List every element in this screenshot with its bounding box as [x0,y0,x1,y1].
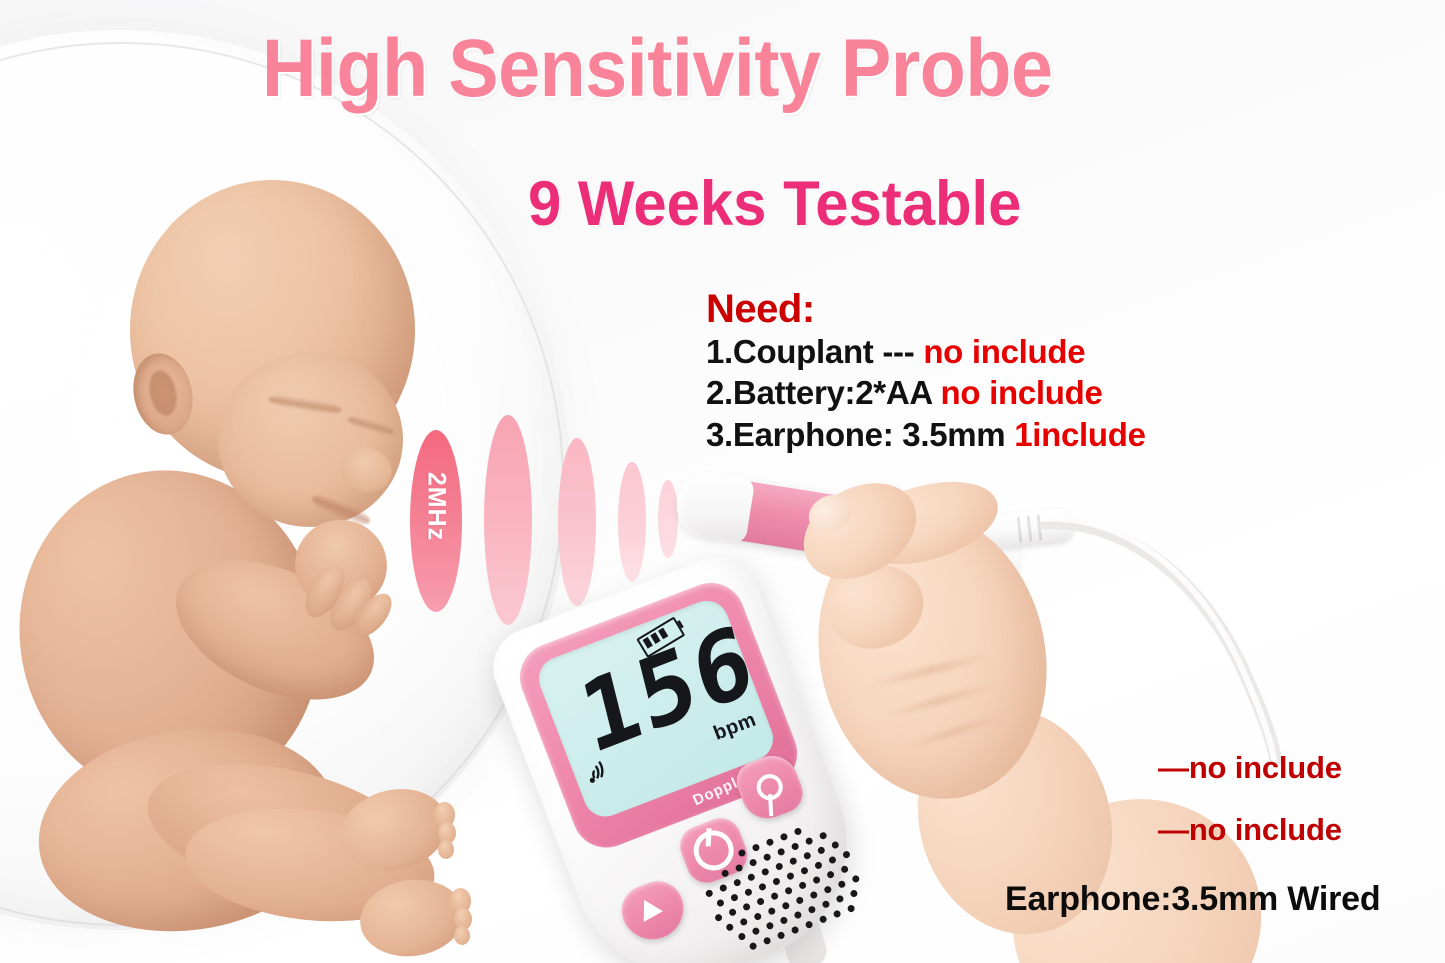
callout-earphone: Earphone:3.5mm Wired [1005,880,1380,919]
key-icon [756,773,783,800]
wave-ellipse-1: 2MHz [410,430,462,612]
speaker-dot [735,863,744,872]
triangle-play-icon [644,900,663,922]
callout-dash: — [1158,750,1189,785]
speaker-dot [791,926,800,935]
need-section: Need: 1.Couplant --- no include 2.Batter… [706,288,1146,455]
need-item-status: no include [923,333,1085,370]
speaker-dot [784,886,793,895]
speaker-dot [789,857,798,866]
speaker-dot [772,877,781,886]
need-item-status: 1include [1014,416,1145,453]
speaker-dot [849,889,858,898]
speaker-dot [812,875,821,884]
need-item-label: 2.Battery:2*AA [706,374,932,411]
need-item-label: 3.Earphone: 3.5mm [706,416,1005,453]
speaker-dot [779,832,788,841]
speaker-dot [826,870,835,879]
speaker-dot [805,920,814,929]
speaker-dot [761,867,770,876]
speaker-dot [833,909,842,918]
speaker-dot [756,897,765,906]
speaker-dot [765,838,774,847]
speaker-dot [851,874,860,883]
speaker-dot [823,885,832,894]
speaker-dot [733,878,742,887]
callout-text: no include [1189,812,1342,847]
speaker-dot [763,853,772,862]
speaker-dot [817,846,826,855]
speaker-dot [714,913,723,922]
wave-ellipse-3 [558,438,596,606]
speaker-dot [814,861,823,870]
speaker-dot [821,900,830,909]
baby-toe [454,926,470,945]
speaker-dot [793,911,802,920]
speaker-dot [828,855,837,864]
speaker-dot [749,942,758,951]
probe-tip [672,468,755,545]
speaker-dot [742,902,751,911]
speaker-dot [831,840,840,849]
speaker-dot [775,862,784,871]
speaker-dot [758,882,767,891]
speaker-dot [767,907,776,916]
speaker-dot [809,891,818,900]
speaker-dot [763,936,772,945]
speaker-dot [747,873,756,882]
need-item-label: 1.Couplant --- [706,333,914,370]
need-item: 3.Earphone: 3.5mm 1include [706,414,1146,455]
wave-ellipse-4 [618,462,646,582]
speaker-dot [791,842,800,851]
advertisement-canvas: 2MHz High Sensitivity Probe 9 Weeks Test… [0,0,1445,963]
need-item: 1.Couplant --- no include [706,331,1146,372]
speaker-dot [765,921,774,930]
speaker-dot [705,889,714,898]
speaker-dot [807,905,816,914]
speaker-dot [800,866,809,875]
page-subtitle: 9 Weeks Testable [528,168,1021,240]
volume-button[interactable] [614,874,692,948]
speaker-dot [737,932,746,941]
baby-toe [438,840,454,859]
speaker-dot [753,912,762,921]
speaker-dot [805,837,814,846]
heart-rate-value: 156 [572,610,763,768]
callout-no-include-2: —no include [1158,812,1342,848]
speaker-dot [842,850,851,859]
speaker-dot [837,880,846,889]
speaker-dot [770,892,779,901]
callout-text: no include [1189,750,1342,785]
speaker-dot [795,896,804,905]
speaker-dot [719,883,728,892]
speaker-dot [716,898,725,907]
speaker-dot [793,827,802,836]
speaker-dot [721,869,730,878]
callout-dash: — [1158,812,1189,847]
speaker-dot [840,865,849,874]
baby-jaw [218,352,403,527]
speaker-dot [728,908,737,917]
speaker-dot [777,931,786,940]
speaker-dot [819,831,828,840]
speaker-dot [751,843,760,852]
speaker-dot [749,858,758,867]
callout-no-include-1: —no include [1158,750,1342,786]
speaker-dot [835,894,844,903]
frequency-label: 2MHz [422,462,451,552]
speaker-dot [744,888,753,897]
speaker-dot [739,917,748,926]
need-item-status: no include [941,374,1103,411]
speaker-dot [803,851,812,860]
need-heading: Need: [706,288,1146,331]
speaker-dot [725,923,734,932]
speaker-dot [779,916,788,925]
speaker-dot [730,893,739,902]
speaker-dot [751,927,760,936]
speaker-dot [781,901,790,910]
speaker-dot [847,904,856,913]
wave-ellipse-2 [484,415,532,625]
speaker-dot [819,915,828,924]
page-title: High Sensitivity Probe [262,22,1053,116]
speaker-dot [786,872,795,881]
speaker-dot [737,848,746,857]
speaker-dot [798,881,807,890]
speaker-dot [777,847,786,856]
need-item: 2.Battery:2*AA no include [706,372,1146,413]
